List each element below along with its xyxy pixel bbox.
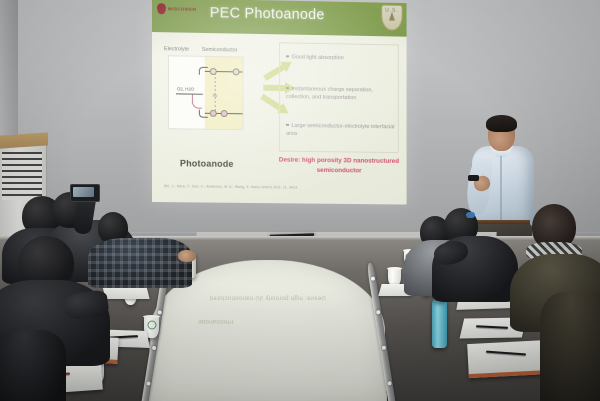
attendee-hand xyxy=(178,250,196,262)
audience-member-right-ponytail xyxy=(432,208,516,300)
audience-member-left-foreground xyxy=(0,330,60,401)
hole-carrier xyxy=(221,110,228,117)
slide-citation: Shi, J.; Hara, Y.; Sun, C.; Anderson, M.… xyxy=(164,184,362,190)
audience-member-right-foreground xyxy=(540,292,600,401)
bullet-item: Instantaneous charge separation, collect… xyxy=(286,85,396,103)
presenter-hair xyxy=(486,115,517,132)
slide-header-band: WISCONSIN PEC Photoanode U.S. xyxy=(152,0,407,37)
slide-title: PEC Photoanode xyxy=(210,5,325,23)
highlight-line-2: semiconductor xyxy=(317,167,362,174)
reaction-arrow xyxy=(192,95,202,109)
wisconsin-crest-icon: WISCONSIN xyxy=(157,2,209,15)
projected-slide: WISCONSIN PEC Photoanode U.S. Electrolyt… xyxy=(152,0,407,205)
presentation-remote-icon xyxy=(468,175,479,181)
bullet-square-icon xyxy=(286,123,288,126)
hair-tie-icon xyxy=(466,212,475,218)
forest-service-shield-icon: U.S. xyxy=(381,5,401,29)
electron-carrier xyxy=(210,68,217,75)
hole-carrier xyxy=(210,110,217,117)
reflected-caption-text: Photoanode xyxy=(148,318,333,324)
diagram-label-electrolyte: Electrolyte xyxy=(164,46,189,52)
wisconsin-wordmark: WISCONSIN xyxy=(168,6,197,12)
slide-highlight-text: Desire: high porosity 3D nanostructured … xyxy=(277,156,401,177)
diagram-frame: hv O2, H2O xyxy=(168,55,244,130)
screenshot-root: WISCONSIN PEC Photoanode U.S. Electrolyt… xyxy=(0,0,600,401)
bullet-list-box: Good light absorption Instantaneous char… xyxy=(279,42,399,153)
reflected-highlight-text: Desire: high porosity 3D nanostructured xyxy=(151,295,384,301)
phone-screen xyxy=(73,187,94,197)
band-bending-upper xyxy=(199,67,208,75)
shield-us-text: U.S. xyxy=(382,8,402,14)
slide-body: Electrolyte Semiconductor hv O2, H2O xyxy=(152,32,407,205)
species-label: O2, H2O xyxy=(177,86,194,91)
photon-label: hv xyxy=(213,93,217,98)
band-bending-lower xyxy=(199,110,208,118)
electron-carrier xyxy=(233,68,240,75)
ac-vent-louvers xyxy=(2,152,42,200)
bullet-square-icon xyxy=(286,55,288,58)
bullet-item: Large semiconductor-electrolyte interfac… xyxy=(286,122,396,140)
band-diagram: Electrolyte Semiconductor hv O2, H2O xyxy=(164,46,259,139)
highlight-line-1: Desire: high porosity 3D nanostructured xyxy=(279,157,399,165)
diagram-caption: Photoanode xyxy=(180,158,234,169)
bullet-square-icon xyxy=(286,87,288,90)
diagram-label-semiconductor: Semiconductor xyxy=(202,47,238,54)
bullet-item: Good light absorption xyxy=(286,53,396,63)
notebook xyxy=(467,340,551,378)
water-bottle xyxy=(432,300,447,348)
